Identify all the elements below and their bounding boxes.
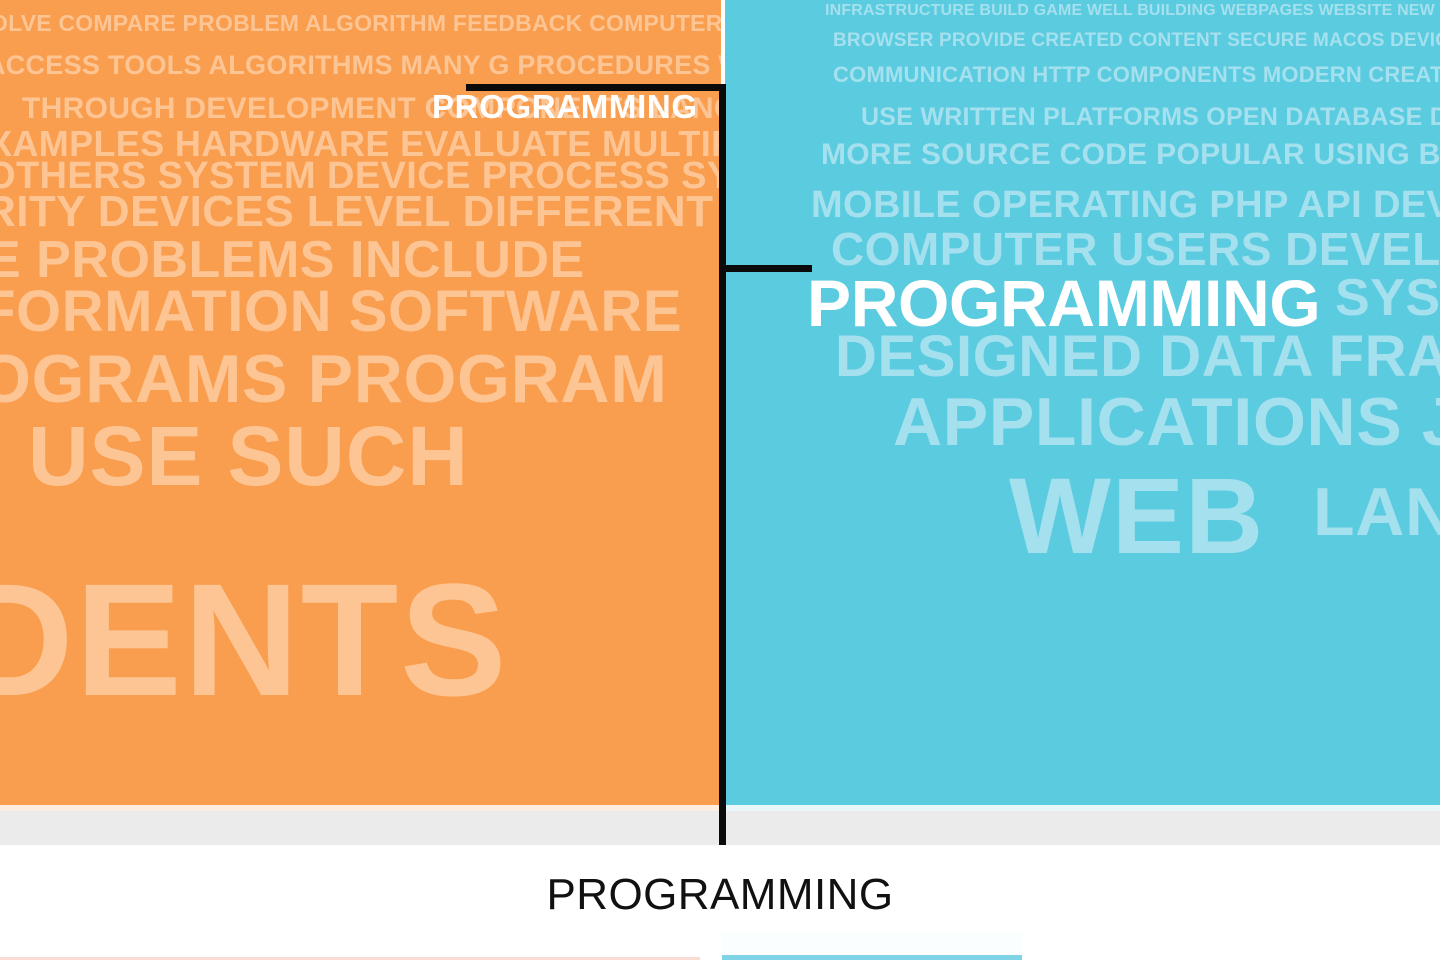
bracket-vertical-divider: [719, 84, 726, 845]
blue-word-row: INFRASTRUCTURE BUILD GAME WELL BUILDING …: [825, 3, 1440, 19]
blue-word-row: APPLICATIONS JAVA: [893, 388, 1440, 456]
orange-wordcloud-panel: OLVE COMPARE PROBLEM ALGORITHM FEEDBACK …: [0, 0, 721, 805]
orange-word-row: OLVE COMPARE PROBLEM ALGORITHM FEEDBACK …: [0, 12, 721, 35]
footer-sliver-cyan: [722, 955, 1022, 960]
bracket-horizontal-left: [466, 84, 724, 91]
orange-hero-word: PROGRAMMING: [432, 90, 698, 123]
orange-word-row: RITY DEVICES LEVEL DIFFERENT: [0, 190, 713, 234]
orange-word-row: USE SUCH: [28, 414, 469, 498]
blue-word-row: COMMUNICATION HTTP COMPONENTS MODERN CRE…: [833, 64, 1440, 86]
blue-word-row: LANGUAGE: [1313, 478, 1440, 546]
wordcloud-comparison-figure: OLVE COMPARE PROBLEM ALGORITHM FEEDBACK …: [0, 0, 1440, 960]
blue-word-row: USE WRITTEN PLATFORMS OPEN DATABASE DEVE…: [861, 105, 1440, 130]
blue-word-row: MORE SOURCE CODE POPULAR USING BUILT HTM…: [821, 140, 1440, 170]
orange-word-row: DENTS: [0, 560, 508, 720]
orange-word-row: ACCESS TOOLS ALGORITHMS MANY G PROCEDURE…: [0, 52, 721, 79]
blue-wordcloud-panel: INFRASTRUCTURE BUILD GAME WELL BUILDING …: [725, 0, 1440, 805]
figure-caption: PROGRAMMING: [0, 870, 1440, 920]
blue-word-row: SYSTEMS: [1335, 272, 1440, 324]
blue-word-row: MOBILE OPERATING PHP API DEVELOPED A: [811, 186, 1440, 224]
bracket-horizontal-right: [722, 265, 812, 272]
blue-word-row: WEB: [1009, 462, 1264, 570]
footer-halo: [722, 933, 1022, 955]
orange-word-row: FORMATION SOFTWARE: [0, 283, 682, 341]
blue-hero-word: PROGRAMMING: [807, 270, 1320, 336]
blue-word-row: BROWSER PROVIDE CREATED CONTENT SECURE M…: [833, 31, 1440, 50]
orange-word-row: OGRAMS PROGRAM: [0, 345, 668, 413]
